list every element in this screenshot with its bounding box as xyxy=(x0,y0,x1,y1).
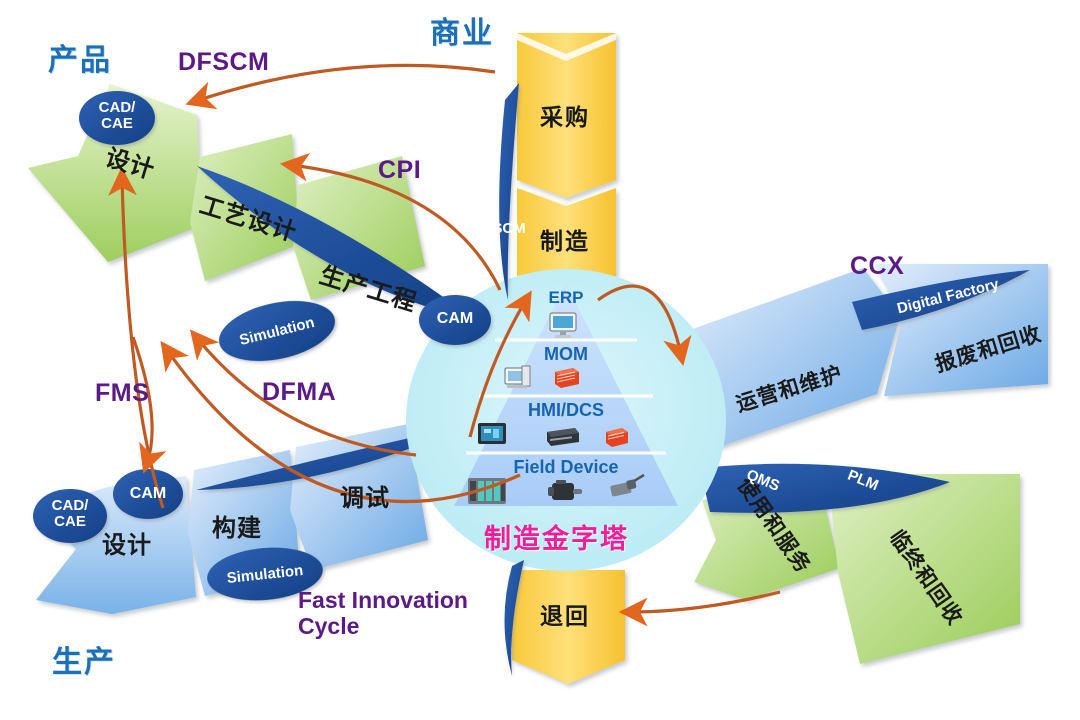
lens-label-product-cam: CAM xyxy=(425,310,485,328)
chevron-label-production-design: 设计 xyxy=(102,525,152,560)
pyramid-tier-label-field-device: Field Device xyxy=(486,457,646,478)
fast-innovation-line2: Cycle xyxy=(298,614,468,640)
chevron-label-return: 退回 xyxy=(540,597,590,631)
chevron-label-manufacture: 制造 xyxy=(540,222,590,256)
lens-business-scm[interactable] xyxy=(499,83,519,300)
lens-label-production-cad-cae: CAD/ CAE xyxy=(40,498,100,530)
diagram-canvas: 产品 商业 生产 DFSCM CPI FMS DFMA CCX Fast Inn… xyxy=(0,0,1080,720)
business-chevron-group xyxy=(517,33,616,300)
lens-label-product-cad-cae: CAD/ CAE xyxy=(87,100,147,132)
lens-label-cad-2: CAD/ xyxy=(40,498,100,514)
pyramid-tier-label-hmi-dcs: HMI/DCS xyxy=(496,400,636,421)
chevron-label-build: 构建 xyxy=(212,508,262,543)
pyramid-title: 制造金字塔 xyxy=(484,517,629,556)
lens-label-cae: CAE xyxy=(87,116,147,132)
arrow-fms xyxy=(133,337,152,463)
hmi-panel-icon xyxy=(478,423,506,444)
chevron-label-procurement: 采购 xyxy=(540,98,590,132)
pyramid-tier-label-mom: MOM xyxy=(516,344,616,365)
lens-label-cad: CAD/ xyxy=(87,100,147,116)
lens-label-production-cam: CAM xyxy=(118,485,178,503)
pyramid-tier-label-erp: ERP xyxy=(516,288,616,308)
fast-innovation-line1: Fast Innovation xyxy=(298,588,468,614)
lens-label-cae-2: CAE xyxy=(40,514,100,530)
arrow-dfscm xyxy=(196,65,495,101)
chevron-label-commission: 调试 xyxy=(340,478,390,513)
lens-label-scm: SCM xyxy=(486,220,532,237)
fast-innovation-cycle-label: Fast Innovation Cycle xyxy=(298,588,468,640)
